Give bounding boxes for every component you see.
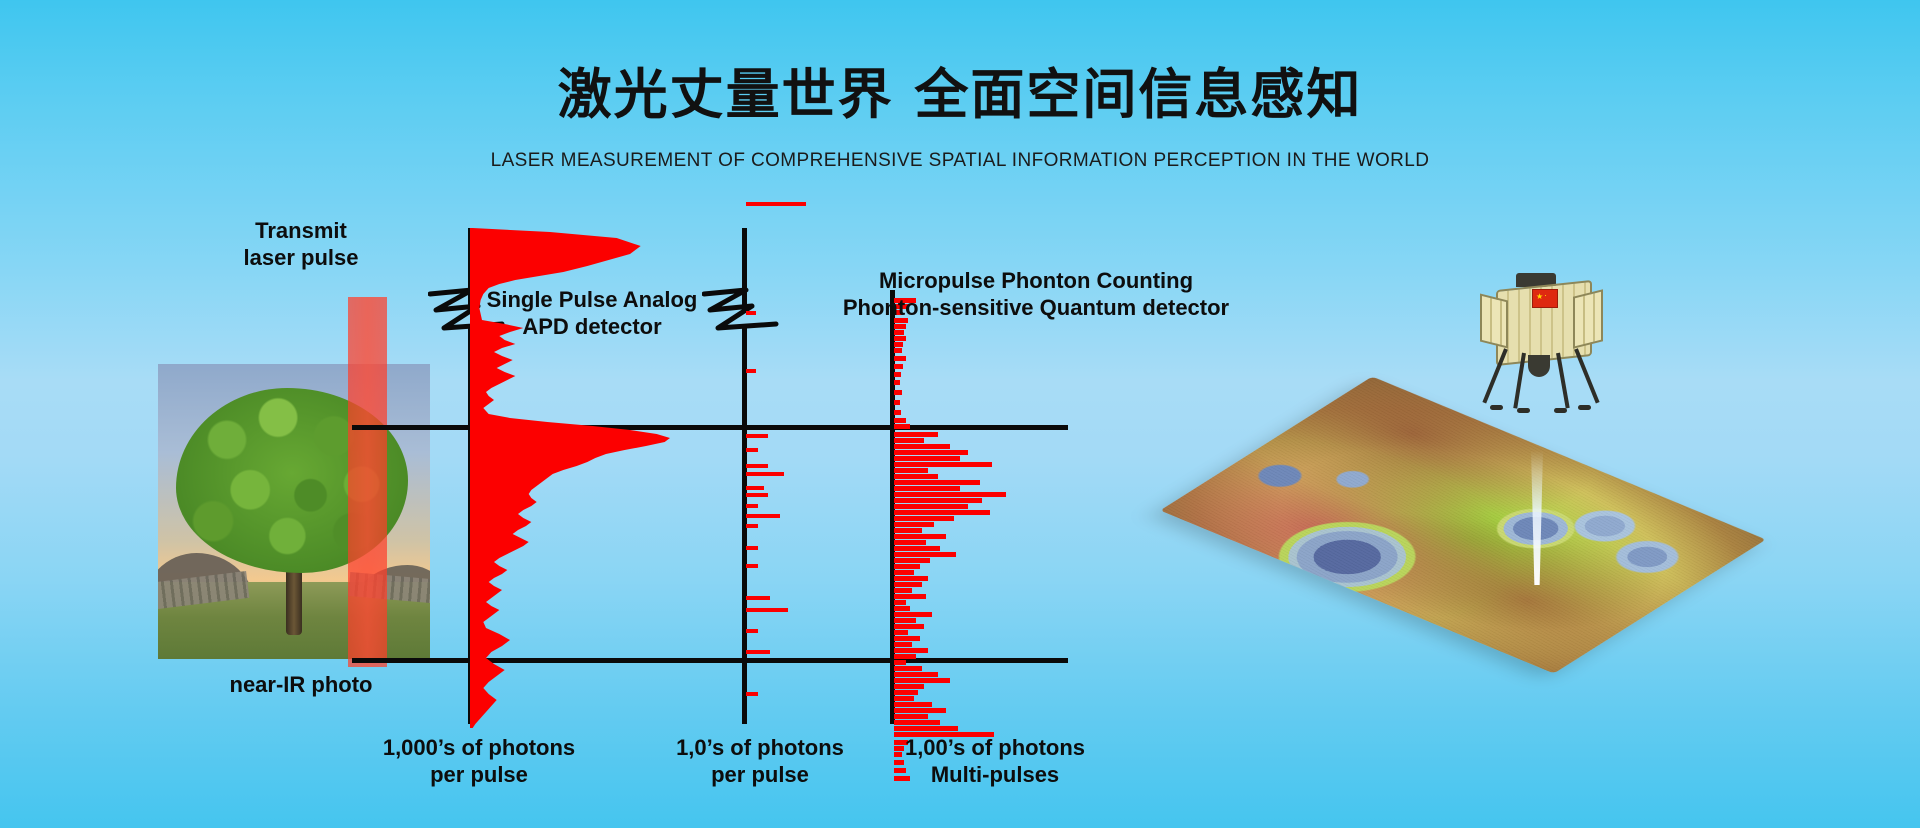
photon-histogram-bar xyxy=(894,336,906,341)
photon-histogram-bar xyxy=(894,654,916,659)
photon-histogram-bar xyxy=(894,696,914,701)
photon-histogram-bar xyxy=(894,432,938,437)
photon-histogram-bar xyxy=(894,564,920,569)
lander-foot xyxy=(1578,405,1591,410)
lander-engine-nozzle xyxy=(1528,355,1550,377)
lander-leg xyxy=(1574,348,1599,403)
photon-bar xyxy=(746,692,758,696)
photon-bar xyxy=(746,629,758,633)
photon-histogram-bar xyxy=(894,648,928,653)
photon-histogram-bar xyxy=(894,504,968,509)
photon-histogram-bar xyxy=(894,726,958,731)
photon-bar xyxy=(746,596,770,600)
photon-histogram-bar xyxy=(894,390,902,395)
photon-histogram-bar xyxy=(894,364,903,369)
photon-histogram-bar xyxy=(894,510,990,515)
photon-bar xyxy=(746,311,756,315)
photon-histogram-bar xyxy=(894,708,946,713)
photon-histogram-bar xyxy=(894,480,980,485)
photon-bar xyxy=(746,486,764,490)
photon-bar xyxy=(746,524,758,528)
photon-histogram-bar xyxy=(894,594,926,599)
poster-canvas: 激光丈量世界 全面空间信息感知 LASER MEASUREMENT OF COM… xyxy=(0,0,1920,828)
photon-histogram-bar xyxy=(894,606,910,611)
photon-histogram-bar xyxy=(894,356,906,361)
photon-bar xyxy=(746,546,758,550)
photon-histogram-bar xyxy=(894,418,906,423)
lander-leg xyxy=(1556,353,1570,409)
photon-bar xyxy=(746,564,758,568)
photon-histogram-bar xyxy=(894,702,932,707)
china-flag-icon: ★ · xyxy=(1532,289,1558,308)
photon-histogram-bar xyxy=(894,468,928,473)
photon-histogram-bar xyxy=(894,546,940,551)
photon-histogram-bar xyxy=(894,342,903,347)
photon-bar xyxy=(746,472,784,476)
photon-histogram-bar xyxy=(894,588,912,593)
photon-bar xyxy=(746,504,758,508)
near-ir-tree-photo xyxy=(158,364,430,659)
caption-10s-photons: 1,0’s of photons per pulse xyxy=(645,735,875,789)
photon-histogram-bar xyxy=(894,684,924,689)
lander-foot xyxy=(1517,408,1530,413)
photon-histogram-bar xyxy=(894,600,906,605)
photon-histogram-bar xyxy=(894,624,924,629)
ground-reference-line xyxy=(352,658,1068,663)
photon-histogram-bar xyxy=(894,492,1006,497)
photon-histogram-bar xyxy=(894,558,930,563)
page-title: 激光丈量世界 全面空间信息感知 xyxy=(0,50,1920,129)
photon-histogram-bar xyxy=(894,678,950,683)
lunar-mapping-scene: ★ · xyxy=(1195,265,1915,755)
photon-histogram-bar xyxy=(894,424,910,429)
photon-bar xyxy=(746,202,806,206)
lander-foot xyxy=(1490,405,1503,410)
photon-histogram-bar xyxy=(894,348,902,353)
photon-bar xyxy=(746,434,768,438)
terrain-elevation-model xyxy=(1160,376,1766,673)
photon-bar xyxy=(746,514,780,518)
photon-histogram-bar xyxy=(894,330,904,335)
apd-detector-label: Single Pulse Analog APD detector xyxy=(472,287,712,341)
photon-histogram-bar xyxy=(894,528,922,533)
photon-histogram-bar xyxy=(894,642,912,647)
photon-histogram-bar xyxy=(894,582,922,587)
photon-histogram-bar xyxy=(894,456,960,461)
photon-histogram-bar xyxy=(894,410,901,415)
transmit-laser-pulse-label: Transmit laser pulse xyxy=(206,218,396,272)
photon-bar xyxy=(746,493,768,497)
transmit-laser-beam xyxy=(348,297,387,667)
photon-histogram-bar xyxy=(894,666,922,671)
photon-histogram-bar xyxy=(894,462,992,467)
photon-histogram-bar xyxy=(894,450,968,455)
caption-100s-photons: 1,00’s of photons Multi-pulses xyxy=(880,735,1110,789)
photon-histogram-bar xyxy=(894,618,916,623)
photon-histogram-bar xyxy=(894,474,938,479)
photon-histogram-bar xyxy=(894,400,900,405)
photon-histogram-bar xyxy=(894,720,940,725)
flag-star: · xyxy=(1544,291,1547,300)
lander-solar-panel-right xyxy=(1573,289,1603,348)
near-ir-photo-label: near-IR photo xyxy=(196,672,406,699)
caption-1000s-photons: 1,000’s of photons per pulse xyxy=(364,735,594,789)
photon-histogram-bar xyxy=(894,516,954,521)
photon-histogram-bar xyxy=(894,438,924,443)
photon-histogram-bar xyxy=(894,714,928,719)
photon-histogram-bar xyxy=(894,636,920,641)
photon-histogram-bar xyxy=(894,324,906,329)
photon-bar xyxy=(746,448,758,452)
photon-bar xyxy=(746,369,756,373)
canopy-top-reference-line xyxy=(352,425,1068,430)
lander-foot xyxy=(1554,408,1567,413)
photon-histogram-bar xyxy=(894,672,938,677)
photon-histogram-bar xyxy=(894,660,906,665)
photon-histogram-bar xyxy=(894,612,932,617)
photon-histogram-bar xyxy=(894,486,960,491)
photon-bar xyxy=(746,608,788,612)
photon-histogram-bar xyxy=(894,534,946,539)
terrain-texture xyxy=(1160,376,1766,673)
plot2-axis-break-icon xyxy=(702,286,780,332)
photon-histogram-bar xyxy=(894,380,900,385)
photon-histogram-bar xyxy=(894,552,956,557)
photon-histogram-bar xyxy=(894,540,926,545)
photon-histogram-bar xyxy=(894,498,982,503)
photon-histogram-bar xyxy=(894,690,918,695)
photon-histogram-bar xyxy=(894,570,914,575)
micropulse-quantum-detector-label: Micropulse Phonton Counting Phonton-sens… xyxy=(836,268,1236,322)
photon-histogram-bar xyxy=(894,372,901,377)
flag-star: ★ xyxy=(1536,292,1543,301)
page-subtitle: LASER MEASUREMENT OF COMPREHENSIVE SPATI… xyxy=(0,150,1920,172)
photon-histogram-bar xyxy=(894,522,934,527)
photon-histogram-bar xyxy=(894,576,928,581)
photon-histogram-bar xyxy=(894,444,950,449)
photon-histogram-bar xyxy=(894,630,908,635)
lunar-lander: ★ · xyxy=(1478,271,1603,446)
lander-solar-panel-left xyxy=(1480,294,1508,349)
photon-bar xyxy=(746,464,768,468)
photon-bar xyxy=(746,650,770,654)
